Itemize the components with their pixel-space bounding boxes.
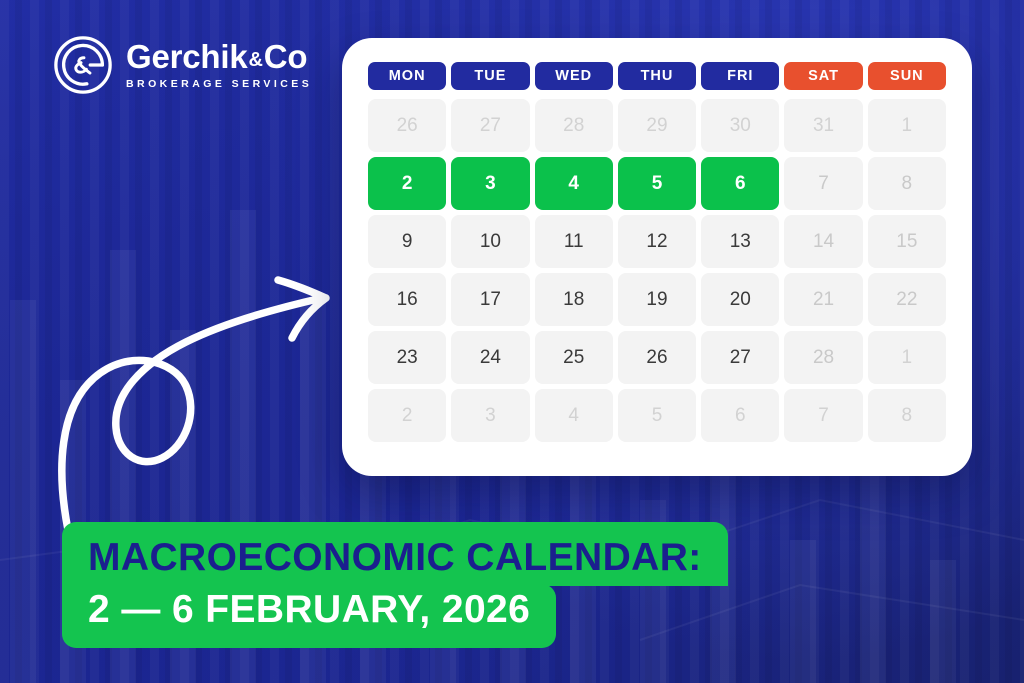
calendar-day-cell[interactable]: 31 [784,99,862,152]
calendar-day-cell[interactable]: 10 [451,215,529,268]
title-line2-wrap: 2 — 6 FEBRUARY, 2026 [62,586,728,648]
calendar-day-cell[interactable]: 17 [451,273,529,326]
calendar-day-cell[interactable]: 5 [618,157,696,210]
calendar-day-cell[interactable]: 26 [368,99,446,152]
calendar-day-cell[interactable]: 4 [535,389,613,442]
brand-tagline: BROKERAGE SERVICES [126,78,312,90]
day-header-fri: FRI [701,62,779,90]
calendar-day-cell[interactable]: 8 [868,157,946,210]
page-title-line2: 2 — 6 FEBRUARY, 2026 [62,584,556,648]
calendar-day-cell[interactable]: 3 [451,157,529,210]
calendar-day-cell[interactable]: 4 [535,157,613,210]
calendar-day-cell[interactable]: 13 [701,215,779,268]
hand-drawn-looping-arrow-icon [46,268,356,538]
calendar-day-cell[interactable]: 5 [618,389,696,442]
calendar-day-cell[interactable]: 11 [535,215,613,268]
calendar-day-cell[interactable]: 16 [368,273,446,326]
gerchik-circle-monogram-icon [52,34,114,96]
calendar-day-cell[interactable]: 27 [451,99,529,152]
day-header-wed: WED [535,62,613,90]
calendar-day-cell[interactable]: 30 [701,99,779,152]
title-line1-wrap: MACROECONOMIC CALENDAR: [62,522,728,586]
calendar-day-cell[interactable]: 1 [868,331,946,384]
day-header-mon: MON [368,62,446,90]
calendar-day-cell[interactable]: 7 [784,157,862,210]
calendar-day-cell[interactable]: 8 [868,389,946,442]
calendar-day-cell[interactable]: 9 [368,215,446,268]
calendar-day-cell[interactable]: 14 [784,215,862,268]
calendar-day-cell[interactable]: 28 [535,99,613,152]
calendar-day-cell[interactable]: 28 [784,331,862,384]
calendar-day-cell[interactable]: 26 [618,331,696,384]
calendar-day-cell[interactable]: 22 [868,273,946,326]
calendar-day-cell[interactable]: 20 [701,273,779,326]
brand-name: Gerchik&Co [126,40,312,73]
day-header-tue: TUE [451,62,529,90]
calendar-day-cell[interactable]: 24 [451,331,529,384]
title-banner: MACROECONOMIC CALENDAR: 2 — 6 FEBRUARY, … [62,522,728,648]
calendar-day-cell[interactable]: 6 [701,389,779,442]
calendar-day-cell[interactable]: 23 [368,331,446,384]
calendar-card: MONTUEWEDTHUFRISATSUN 262728293031123456… [342,38,972,476]
page-title-line1: MACROECONOMIC CALENDAR: [62,522,728,586]
calendar-day-cell[interactable]: 2 [368,389,446,442]
calendar-day-cell[interactable]: 12 [618,215,696,268]
brand-logo[interactable]: Gerchik&Co BROKERAGE SERVICES [52,34,312,96]
calendar-day-cell[interactable]: 25 [535,331,613,384]
day-header-sat: SAT [784,62,862,90]
calendar-day-cell[interactable]: 2 [368,157,446,210]
calendar-day-cell[interactable]: 15 [868,215,946,268]
brand-wordmark: Gerchik&Co BROKERAGE SERVICES [126,40,312,90]
calendar-day-cell[interactable]: 3 [451,389,529,442]
calendar-day-cell[interactable]: 1 [868,99,946,152]
calendar-day-cell[interactable]: 27 [701,331,779,384]
calendar-day-cell[interactable]: 29 [618,99,696,152]
calendar-day-cell[interactable]: 18 [535,273,613,326]
calendar-day-cell[interactable]: 19 [618,273,696,326]
calendar-day-header-row: MONTUEWEDTHUFRISATSUN [368,62,946,90]
day-header-sun: SUN [868,62,946,90]
calendar-day-cell[interactable]: 21 [784,273,862,326]
calendar-day-grid: 2627282930311234567891011121314151617181… [368,99,946,442]
calendar-day-cell[interactable]: 6 [701,157,779,210]
calendar-day-cell[interactable]: 7 [784,389,862,442]
day-header-thu: THU [618,62,696,90]
